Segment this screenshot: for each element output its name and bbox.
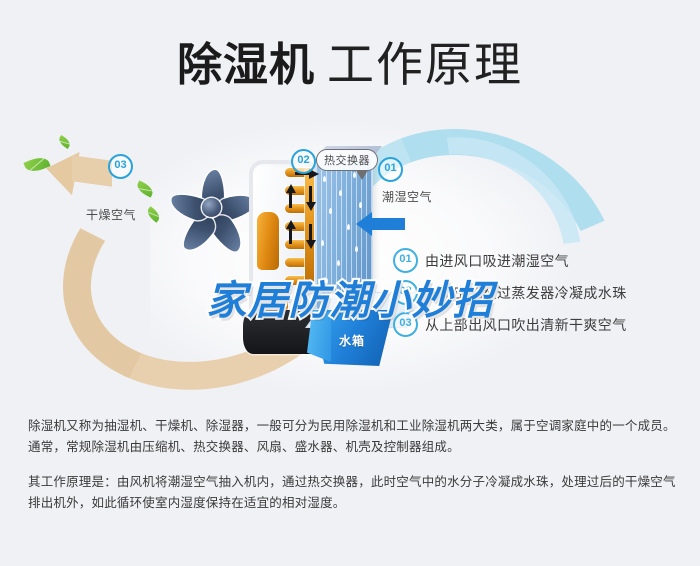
page-title-strong: 除湿机 xyxy=(177,38,315,91)
page-title-light: 工作原理 xyxy=(327,38,523,93)
callout-badge-01: 01 xyxy=(378,157,403,182)
step-item: 03从上部出风口吹出清新干爽空气 xyxy=(393,312,693,344)
step-label: 从上部出风口吹出清新干爽空气 xyxy=(425,315,627,335)
step-item: 01由进风口吸进潮湿空气 xyxy=(393,248,693,280)
condenser-coil-return xyxy=(279,282,288,312)
body-paragraph-2: 其工作原理是：由风机将潮湿空气抽入机内，通过热交换器，此时空气中的水分子冷凝成水… xyxy=(28,472,676,514)
dry-air-arrowhead-fill xyxy=(72,155,112,187)
step-label: 潮湿空气经过蒸发器冷凝成水珠 xyxy=(425,283,627,303)
body-paragraph-1: 除湿机又称为抽湿机、干燥机、除湿器，一般可分为民用除湿机和工业除湿机两大类，属于… xyxy=(28,416,676,458)
fan-hub xyxy=(202,198,221,217)
step-label: 由进风口吸进潮湿空气 xyxy=(425,251,569,271)
callout-badge-03: 03 xyxy=(108,154,133,179)
body-copy: 除湿机又称为抽湿机、干燥机、除湿器，一般可分为民用除湿机和工业除湿机两大类，属于… xyxy=(28,416,676,514)
callout-label-heat-exchanger: 热交换器 xyxy=(316,149,378,171)
step-badge: 03 xyxy=(393,312,418,337)
fan-icon xyxy=(168,164,254,250)
infographic-page: 除湿机工作原理 xyxy=(0,0,700,566)
leaf-icon xyxy=(57,135,72,149)
step-badge: 02 xyxy=(393,280,418,305)
diagram-illustration: 水箱 03 干燥空气 02 热交换器 01 潮湿空气 01由进风口吸进潮湿空气 … xyxy=(0,112,700,402)
callout-label-humid-air: 潮湿空气 xyxy=(382,188,432,205)
compressor-part xyxy=(257,212,279,270)
page-title: 除湿机工作原理 xyxy=(0,26,700,95)
step-list: 01由进风口吸进潮湿空气 02潮湿空气经过蒸发器冷凝成水珠 03从上部出风口吹出… xyxy=(393,248,693,344)
step-badge: 01 xyxy=(393,248,418,273)
water-tank-label: 水箱 xyxy=(339,332,365,349)
dehumidifier-machine: 水箱 xyxy=(243,142,393,362)
step-item: 02潮湿空气经过蒸发器冷凝成水珠 xyxy=(393,280,693,312)
air-intake-arrow xyxy=(371,218,405,230)
callout-label-dry-air: 干燥空气 xyxy=(86,206,136,223)
callout-badge-02: 02 xyxy=(291,149,316,174)
callout-tail-heat-exchanger xyxy=(356,170,368,180)
